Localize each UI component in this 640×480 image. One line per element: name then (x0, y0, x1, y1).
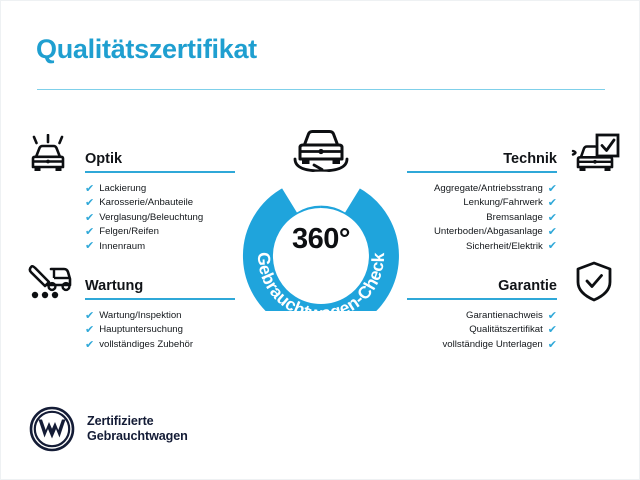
page-title: Qualitätszertifikat (36, 34, 257, 65)
check-icon: ✔ (85, 325, 94, 336)
check-icon: ✔ (548, 227, 557, 238)
list-item: ✔ Karosserie/Anbauteile (85, 196, 235, 210)
section-optik: Optik ✔ Lackierung ✔ Karosserie/Anbautei… (85, 139, 235, 254)
section-title-technik: Technik (503, 151, 557, 167)
360-check-badge: Gebrauchtwagen-Check 360° (234, 119, 408, 311)
list-item-label: Innenraum (99, 240, 145, 254)
section-header: Optik (85, 139, 235, 173)
list-item: ✔ Lenkung/Fahrwerk (407, 196, 557, 210)
list-item: ✔ vollständige Unterlagen (407, 338, 557, 352)
list-item-label: Qualitätszertifikat (469, 323, 543, 337)
check-icon: ✔ (548, 213, 557, 224)
vw-brand-line1: Zertifizierte (87, 414, 188, 430)
list-item-label: Hauptuntersuchung (99, 323, 183, 337)
section-technik: Technik ✔ Aggregate/Antriebsstrang ✔ Len… (407, 139, 557, 254)
checklist-optik: ✔ Lackierung ✔ Karosserie/Anbauteile ✔ V… (85, 182, 235, 254)
list-item-label: vollständiges Zubehör (99, 338, 193, 352)
car-checkbox-icon (569, 133, 621, 182)
check-icon: ✔ (85, 227, 94, 238)
section-title-garantie: Garantie (498, 278, 557, 294)
vw-logo-icon (29, 406, 75, 452)
section-title-optik: Optik (85, 151, 122, 167)
list-item: ✔ Hauptuntersuchung (85, 323, 235, 337)
list-item-label: vollständige Unterlagen (443, 338, 543, 352)
list-item-label: Garantienachweis (466, 309, 543, 323)
check-icon: ✔ (548, 184, 557, 195)
badge-curved-label: Gebrauchtwagen-Check (254, 252, 388, 311)
check-icon: ✔ (548, 198, 557, 209)
check-icon: ✔ (85, 311, 94, 322)
list-item: ✔ Wartung/Inspektion (85, 309, 235, 323)
badge-degrees: 360° (234, 223, 408, 256)
check-icon: ✔ (548, 241, 557, 252)
section-divider (85, 298, 235, 300)
list-item-label: Wartung/Inspektion (99, 309, 181, 323)
checklist-garantie: ✔ Garantienachweis ✔ Qualitätszertifikat… (407, 309, 557, 352)
check-icon: ✔ (548, 325, 557, 336)
section-divider (407, 171, 557, 173)
section-garantie: Garantie ✔ Garantienachweis ✔ Qualitätsz… (407, 266, 557, 352)
list-item: ✔ vollständiges Zubehör (85, 338, 235, 352)
shield-check-icon (573, 260, 615, 309)
list-item-label: Karosserie/Anbauteile (99, 196, 193, 210)
list-item: ✔ Felgen/Reifen (85, 225, 235, 239)
section-divider (407, 298, 557, 300)
vw-brand-text: Zertifizierte Gebrauchtwagen (87, 414, 188, 445)
list-item-label: Unterboden/Abgasanlage (434, 225, 543, 239)
checklist-technik: ✔ Aggregate/Antriebsstrang ✔ Lenkung/Fah… (407, 182, 557, 254)
section-header: Garantie (407, 266, 557, 300)
list-item: ✔ Unterboden/Abgasanlage (407, 225, 557, 239)
list-item-label: Bremsanlage (486, 211, 543, 225)
check-icon: ✔ (85, 184, 94, 195)
list-item: ✔ Garantienachweis (407, 309, 557, 323)
checklist-wartung: ✔ Wartung/Inspektion ✔ Hauptuntersuchung… (85, 309, 235, 352)
svg-text:Gebrauchtwagen-Check: Gebrauchtwagen-Check (254, 252, 388, 311)
title-divider (37, 89, 605, 90)
list-item: ✔ Innenraum (85, 240, 235, 254)
section-divider (85, 171, 235, 173)
list-item-label: Verglasung/Beleuchtung (99, 211, 203, 225)
section-header: Wartung (85, 266, 235, 300)
vw-brand-line2: Gebrauchtwagen (87, 429, 188, 445)
check-icon: ✔ (548, 340, 557, 351)
list-item-label: Aggregate/Antriebsstrang (434, 182, 543, 196)
car-front-shine-icon (23, 134, 73, 181)
list-item: ✔ Aggregate/Antriebsstrang (407, 182, 557, 196)
list-item: ✔ Verglasung/Beleuchtung (85, 211, 235, 225)
list-item: ✔ Sicherheit/Elektrik (407, 240, 557, 254)
check-icon: ✔ (85, 213, 94, 224)
list-item-label: Lenkung/Fahrwerk (463, 196, 542, 210)
list-item: ✔ Qualitätszertifikat (407, 323, 557, 337)
check-icon: ✔ (548, 311, 557, 322)
check-icon: ✔ (85, 198, 94, 209)
car-wrench-icon (23, 260, 73, 307)
section-header: Technik (407, 139, 557, 173)
list-item-label: Sicherheit/Elektrik (466, 240, 543, 254)
check-icon: ✔ (85, 241, 94, 252)
certificate-page: Qualitätszertifikat (0, 0, 640, 480)
list-item-label: Lackierung (99, 182, 146, 196)
list-item: ✔ Lackierung (85, 182, 235, 196)
section-wartung: Wartung ✔ Wartung/Inspektion ✔ Hauptunte… (85, 266, 235, 352)
check-icon: ✔ (85, 340, 94, 351)
footer-brand: Zertifizierte Gebrauchtwagen (29, 406, 188, 452)
list-item: ✔ Bremsanlage (407, 211, 557, 225)
list-item-label: Felgen/Reifen (99, 225, 159, 239)
section-title-wartung: Wartung (85, 278, 143, 294)
